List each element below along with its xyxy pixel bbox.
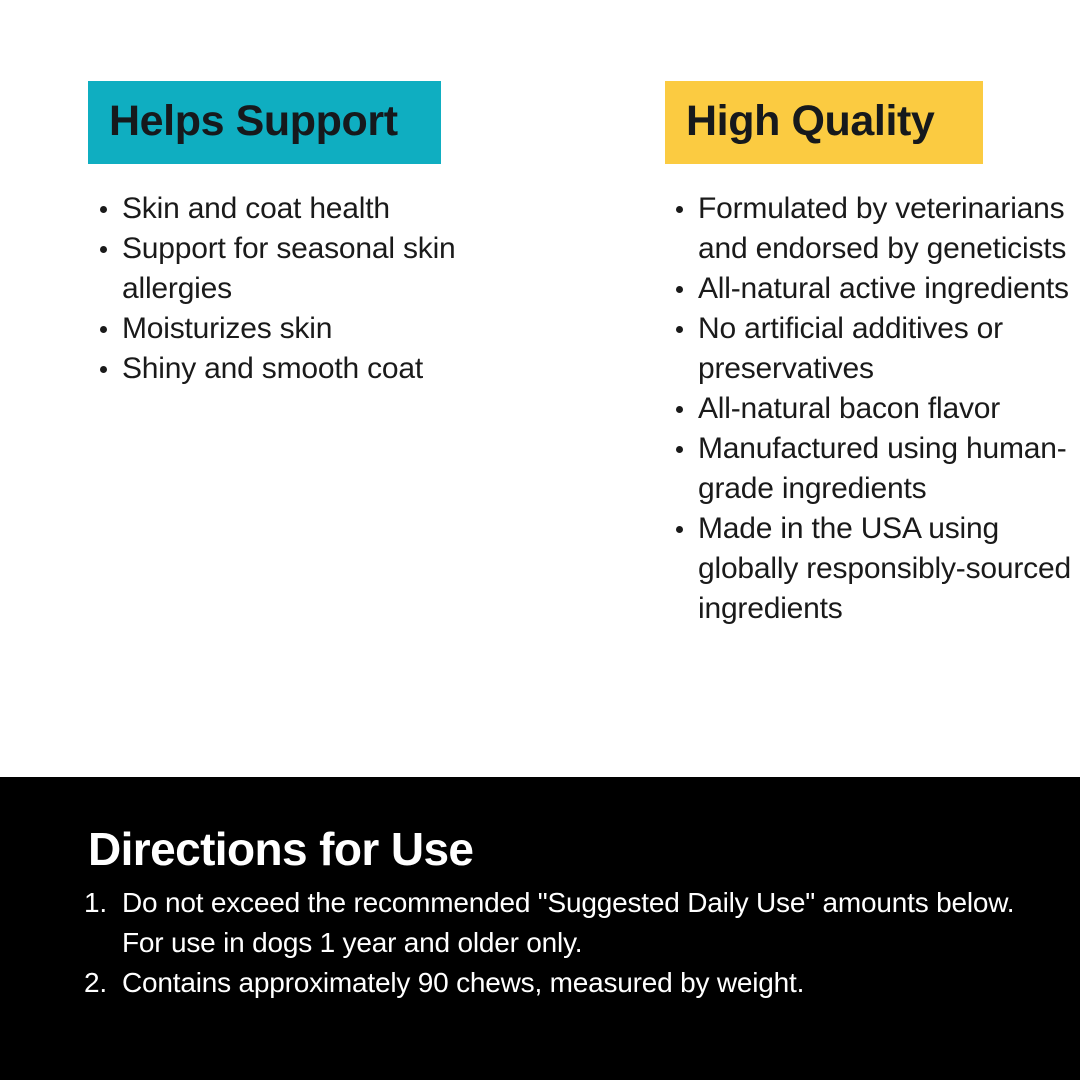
directions-step: 1. Do not exceed the recommended "Sugges… (84, 883, 1024, 963)
helps-support-list: Skin and coat health Support for seasona… (100, 189, 500, 389)
high-quality-list: Formulated by veterinarians and endorsed… (676, 189, 1080, 629)
features-section: Helps Support Skin and coat health Suppo… (0, 0, 1080, 777)
step-number: 2. (84, 963, 107, 1003)
directions-steps-list: 1. Do not exceed the recommended "Sugges… (84, 883, 1024, 1003)
list-item: Moisturizes skin (100, 309, 500, 349)
directions-for-use-section: Directions for Use 1. Do not exceed the … (0, 777, 1080, 1080)
high-quality-heading: High Quality (665, 81, 983, 164)
list-item: Support for seasonal skin allergies (100, 229, 500, 309)
list-item: All-natural active ingredients (676, 269, 1080, 309)
step-number: 1. (84, 883, 107, 923)
high-quality-column: High Quality Formulated by veterinarians… (665, 81, 1065, 629)
helps-support-list-wrapper: Skin and coat health Support for seasona… (100, 189, 500, 389)
high-quality-list-wrapper: Formulated by veterinarians and endorsed… (676, 189, 1080, 629)
step-text: Contains approximately 90 chews, measure… (122, 967, 804, 998)
helps-support-column: Helps Support Skin and coat health Suppo… (88, 81, 508, 389)
step-text: Do not exceed the recommended "Suggested… (122, 887, 1014, 958)
helps-support-heading: Helps Support (88, 81, 441, 164)
directions-step: 2. Contains approximately 90 chews, meas… (84, 963, 1024, 1003)
list-item: Skin and coat health (100, 189, 500, 229)
list-item: Manufactured using human-grade ingredien… (676, 429, 1080, 509)
list-item: Shiny and smooth coat (100, 349, 500, 389)
list-item: Made in the USA using globally responsib… (676, 509, 1080, 629)
list-item: Formulated by veterinarians and endorsed… (676, 189, 1080, 269)
list-item: No artificial additives or preservatives (676, 309, 1080, 389)
list-item: All-natural bacon flavor (676, 389, 1080, 429)
directions-title: Directions for Use (88, 826, 473, 872)
